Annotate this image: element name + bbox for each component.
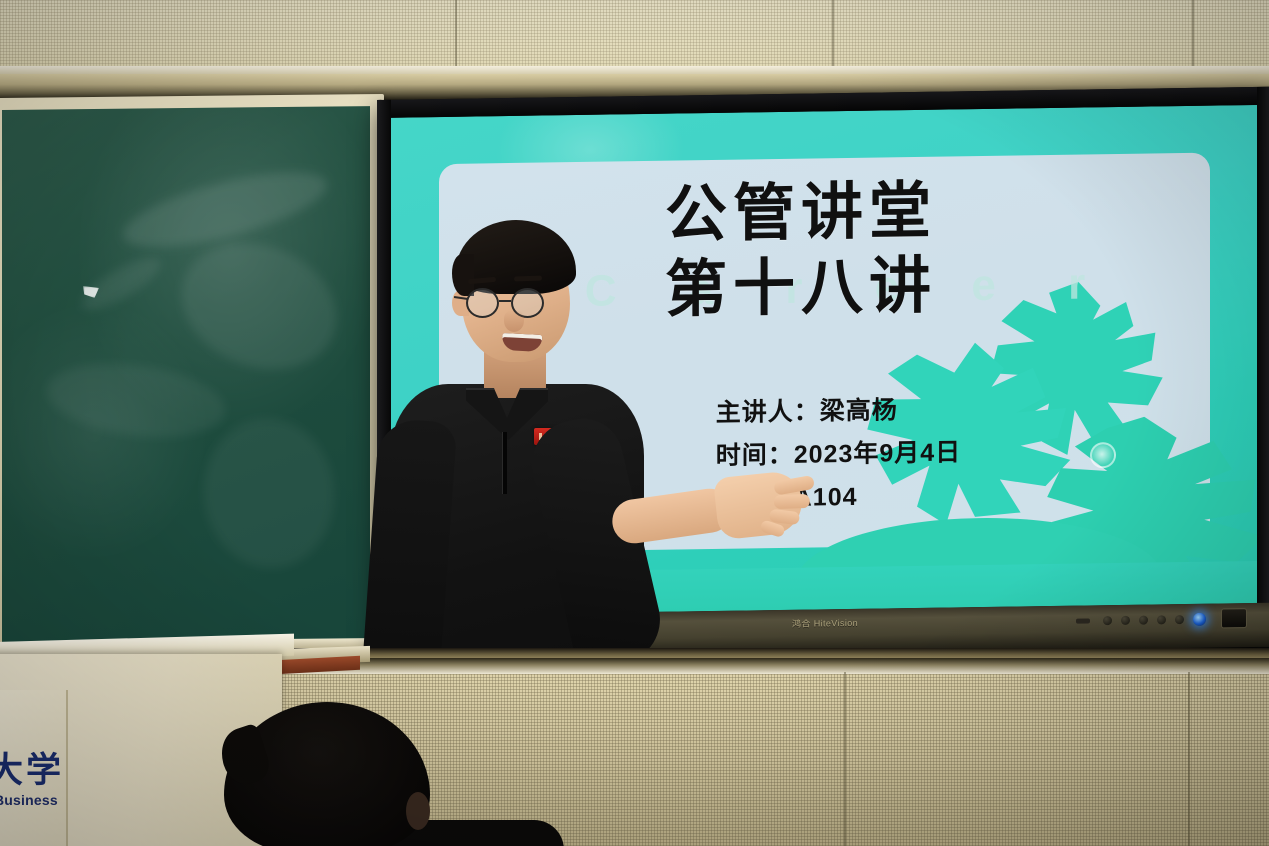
control-button[interactable] xyxy=(1175,615,1184,624)
display-control-row[interactable] xyxy=(1076,608,1247,631)
university-sign-en: Business xyxy=(0,792,74,808)
usb-port[interactable] xyxy=(1221,608,1247,628)
university-sign-cn: 大学 xyxy=(0,742,72,793)
control-button[interactable] xyxy=(1103,616,1112,625)
chalkboard-frame xyxy=(0,94,384,660)
student-ear xyxy=(406,792,430,830)
presenter-eyebrow xyxy=(514,276,542,282)
green-chalkboard xyxy=(2,106,370,646)
control-button[interactable] xyxy=(1121,615,1130,624)
upper-acoustic-wall xyxy=(0,0,1269,76)
display-bezel-right xyxy=(1257,87,1269,647)
control-button[interactable] xyxy=(1139,615,1148,624)
control-button[interactable] xyxy=(1157,615,1166,624)
polo-placket xyxy=(502,432,507,494)
display-brand-label: 鸿合 HiteVision xyxy=(792,616,858,630)
classroom-scene: C a r e e r 公管讲堂 第十八讲 主讲人：梁高杨 时间：2023年9月… xyxy=(0,0,1269,846)
slide-time-line: 时间：2023年9月4日 xyxy=(716,431,961,478)
power-led-icon[interactable] xyxy=(1193,612,1206,625)
student-foreground xyxy=(214,702,446,846)
slide-speaker-line: 主讲人：梁高杨 xyxy=(716,388,961,435)
presenter-nose xyxy=(504,310,524,332)
ir-sensor-icon xyxy=(1076,618,1090,623)
